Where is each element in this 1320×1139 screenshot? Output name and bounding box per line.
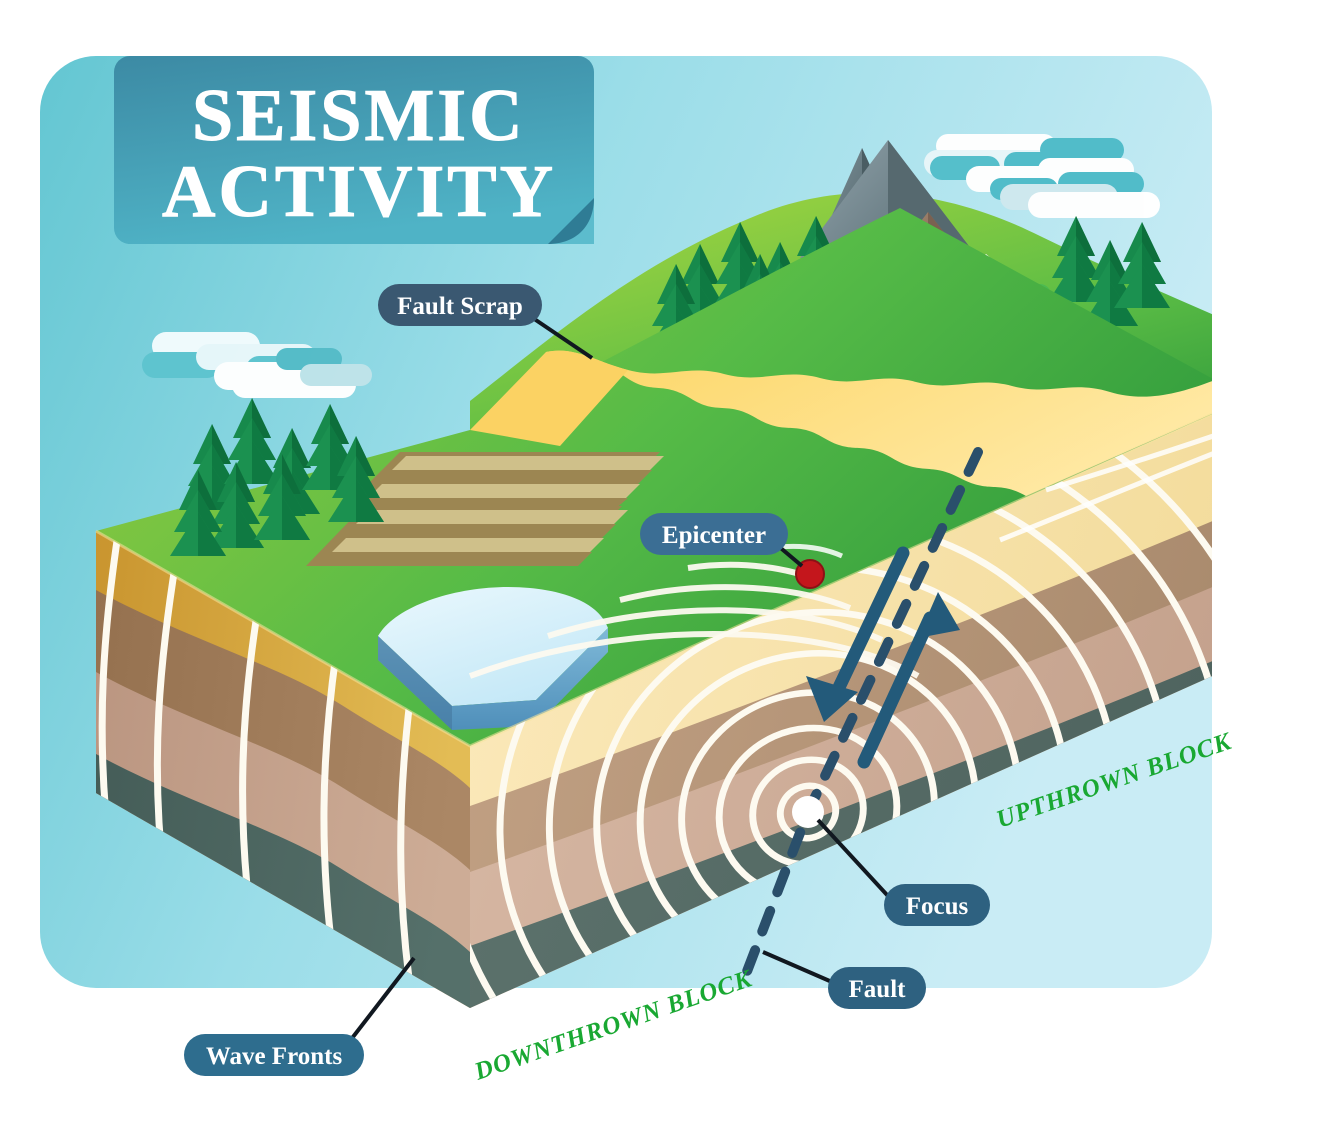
label-epicenter-text: Epicenter: [662, 522, 766, 549]
seismic-activity-diagram: SEISMIC ACTIVITY Fault Scrap Epicenter F…: [0, 0, 1320, 1139]
label-focus-text: Focus: [906, 893, 969, 920]
label-fault[interactable]: Fault: [828, 967, 926, 1009]
label-fault-scrap[interactable]: Fault Scrap: [378, 284, 542, 326]
label-fault-scrap-text: Fault Scrap: [397, 293, 523, 320]
label-fault-text: Fault: [849, 976, 907, 1003]
label-wave-fronts-text: Wave Fronts: [206, 1043, 343, 1070]
label-focus[interactable]: Focus: [884, 884, 990, 926]
label-epicenter[interactable]: Epicenter: [640, 513, 788, 555]
title-line-1: SEISMIC: [192, 75, 526, 157]
label-wave-fronts[interactable]: Wave Fronts: [184, 1034, 364, 1076]
title-line-2: ACTIVITY: [162, 151, 556, 233]
title-banner: SEISMIC ACTIVITY: [114, 56, 594, 244]
